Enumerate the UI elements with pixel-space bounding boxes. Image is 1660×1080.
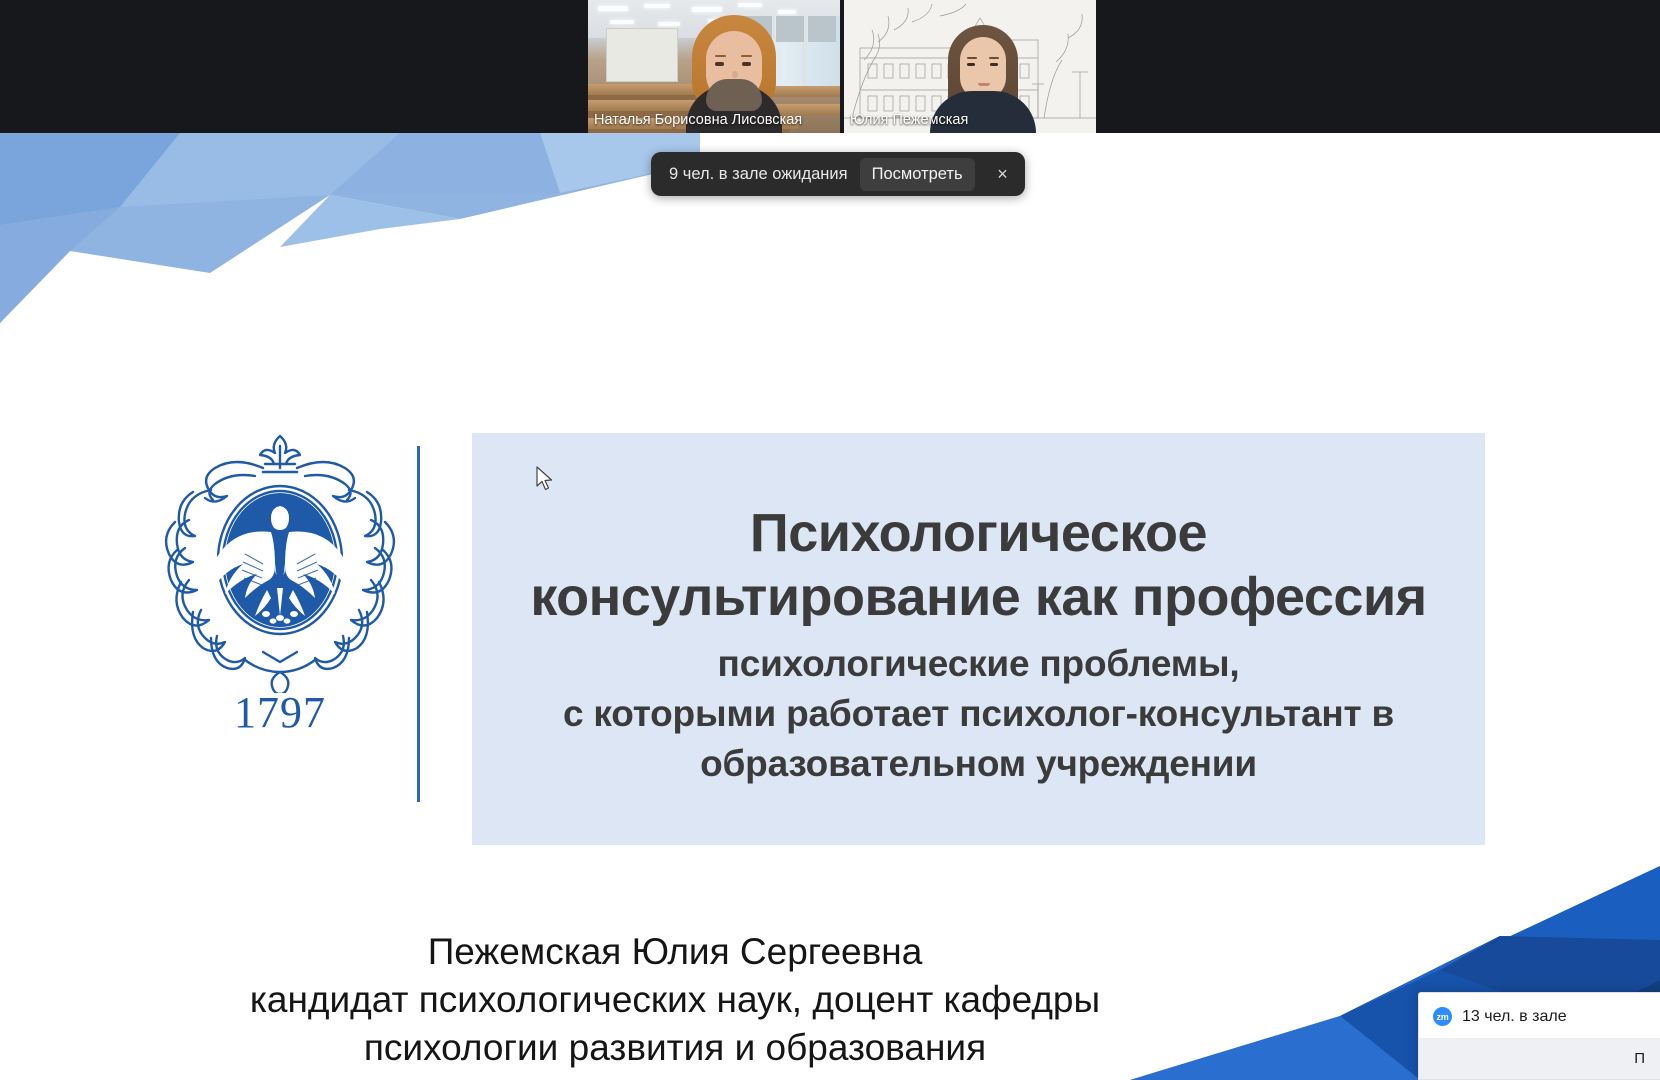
- mouse-cursor-icon: [536, 466, 556, 494]
- foundation-year: 1797: [130, 687, 430, 738]
- slide-subtitle-line-2: с которыми работает психолог-консультант…: [472, 689, 1485, 739]
- system-popup-admit-button[interactable]: П: [1628, 1049, 1651, 1068]
- author-name: Пежемская Юлия Сергеевна: [0, 928, 1350, 976]
- video-strip: Наталья Борисовна Лисовская: [0, 0, 1660, 133]
- herzen-pelican-emblem-icon: [145, 428, 415, 693]
- system-popup-header: zm 13 чел. в зале: [1419, 993, 1660, 1038]
- system-popup-actions: П: [1419, 1038, 1660, 1079]
- projector-screen: [606, 28, 678, 82]
- logo-divider: [417, 446, 420, 802]
- slide-title: Психологическое консультирование как про…: [472, 433, 1485, 629]
- author-position: кандидат психологических наук, доцент ка…: [0, 976, 1350, 1024]
- video-tile-list: Наталья Борисовна Лисовская: [588, 0, 1096, 133]
- waiting-room-message: 9 чел. в зале ожидания: [669, 165, 848, 184]
- video-tile-participant-2[interactable]: Юлия Пежемская: [844, 0, 1096, 133]
- university-logo: 1797: [130, 428, 430, 738]
- close-icon[interactable]: ×: [987, 158, 1019, 190]
- participant-name-label: Наталья Борисовна Лисовская: [594, 112, 802, 129]
- shared-slide: 1797 Психологическое консультирование ка…: [0, 133, 1660, 1080]
- view-waiting-room-button[interactable]: Посмотреть: [860, 158, 975, 191]
- author-department: психологии развития и образования: [0, 1024, 1350, 1072]
- slide-subtitle-line-3: образовательном учреждении: [472, 739, 1485, 789]
- participant-name-label: Юлия Пежемская: [850, 112, 968, 129]
- waiting-room-toast: 9 чел. в зале ожидания Посмотреть ×: [651, 152, 1025, 196]
- system-popup-message: 13 чел. в зале: [1462, 1008, 1567, 1026]
- slide-subtitle-line-1: психологические проблемы,: [472, 639, 1485, 689]
- zoom-app-icon: zm: [1433, 1007, 1452, 1026]
- video-tile-participant-1[interactable]: Наталья Борисовна Лисовская: [588, 0, 840, 133]
- system-waiting-room-popup[interactable]: zm 13 чел. в зале П: [1418, 992, 1660, 1080]
- slide-author-block: Пежемская Юлия Сергеевна кандидат психол…: [0, 928, 1350, 1072]
- slide-title-card: Психологическое консультирование как про…: [472, 433, 1485, 845]
- decorative-polygons-top-left: [0, 133, 700, 363]
